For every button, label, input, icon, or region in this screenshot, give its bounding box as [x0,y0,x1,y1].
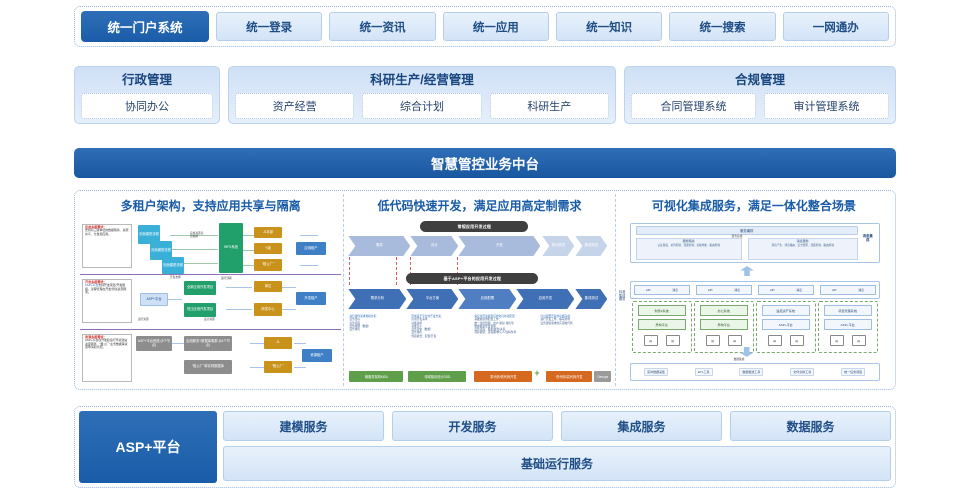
group-admin-cells: 协同办公 [81,93,213,119]
panel-integration-body: 服务编排 服务总线 服务网关 认证鉴权、访问控制、流量控制、负载均衡、路由控制 … [616,219,892,387]
note-app-tenant: 应用多租需求： 支持对三级单位的数据隔离、资源共享、分发和应用。 [82,224,132,268]
label-dev-support: 开发支撑 [170,277,181,280]
panel-lowcode: 低代码快速开发，满足应用高定制需求 常规应用开发过程 需求 设计 开发 单元测试… [343,194,614,386]
asp-platform-services: 建模服务 开发服务 集成服务 数据服务 基础运行服务 [223,411,891,483]
group-admin-title: 行政管理 [81,71,213,90]
group-rd-title: 科研生产/经营管理 [235,71,609,90]
system-hetero-platform-1: 异构平台 [638,319,686,330]
org-rd-center: 研发中心 [254,303,282,316]
org-level-y: Y级 [254,243,282,254]
database-icon-6: ▤ [790,335,804,346]
panel-multitenant: 多租户架构，支持应用共享与隔离 应用多租需求： 支持对三级单位的数据隔离、资源共… [78,194,343,386]
portal-item-apps[interactable]: 统一应用 [443,12,549,41]
database-icon-5: ▤ [768,335,782,346]
org-unit: 单位 [254,281,282,292]
asp-platform-label: ASP+平台 [79,411,217,483]
panel-lowcode-body: 常规应用开发过程 需求 设计 开发 单元测试 集成测试 基于ASP+平台的应用开… [344,219,614,387]
tool-task-scheduler[interactable]: 统一任务调度 [841,368,865,376]
asp-service-chips: 建模服务 开发服务 集成服务 数据服务 [223,411,891,441]
group-compliance: 合规管理 合同管理系统 审计管理系统 [624,66,896,124]
asp-service-integration[interactable]: 集成服务 [561,411,722,441]
system-finance: 财务2系统 [638,305,686,316]
portal-main-system[interactable]: 统一门户系统 [81,11,209,42]
group-rd-cell-asset[interactable]: 资产经营 [235,93,354,119]
asp-service-development[interactable]: 开发服务 [392,411,553,441]
system-asset-monitor: 监控资产系统 [762,305,810,316]
node-factory-db: "租公厂"单实例数据库 [184,360,232,374]
model-flow-3: 页面模型流程 [162,257,184,274]
org-factory-2: "租公厂" [264,361,292,373]
portal-item-knowledge[interactable]: 统一知识 [556,12,662,41]
tool-file-exchange[interactable]: 文件交换工具 [790,368,814,376]
asp-service-modeling[interactable]: 建模服务 [223,411,384,441]
col-text-1: 进行软件需求规格分析： 业务目标 业务流程 业务规则（数据） 业务角色 [349,315,407,331]
database-icon-4: ▤ [728,335,742,346]
tool-data-report[interactable]: 数据报送工具 [739,368,763,376]
message-integration-label: 消息集成 [862,235,874,243]
middle-platform-banner: 智慧管控业务中台 [74,148,896,178]
col-text-2: 形成基于平台的开发方案： 应用开发清单 功能清单 功能定义 业务对象（数据） 业… [411,315,469,338]
portal-item-onestop[interactable]: 一网通办 [783,12,889,41]
feature-panels: 多租户架构，支持应用共享与隔离 应用多租需求： 支持对三级单位的数据隔离、资源共… [74,190,896,390]
legend-ddd: 领域驱动设计DDD [408,371,466,382]
api-row-2: API消息 [696,285,752,295]
col-text-4: 针对需要开发的功能完成： 进行开发工作，编写用例 业务逻辑需求的实现和代码 [540,315,604,325]
node-asp-base: ASP+平台底座 (8个节点) [136,336,172,351]
org-j1: J1 [264,337,292,349]
stage-bot-integration-test: 集成测试 [575,289,607,309]
project-migrate-app: 低迁应用开发项目 [184,303,216,317]
legend-msa: 微服务架构MSA [349,371,403,382]
portal-row: 统一门户系统 统一登录 统一资讯 统一应用 统一知识 统一搜索 一网通办 [74,6,896,47]
system-office: 办公系统 [700,305,748,316]
stage-top-unit-test: 单元测试 [542,236,574,256]
legend-devops: Devops [594,371,611,382]
group-rd: 科研生产/经营管理 资产经营 综合计划 科研生产 [228,66,616,124]
tenant-resource: 资源租户 [302,349,332,362]
arrow-up-icon [740,266,754,276]
asp-platform-row: ASP+平台 建模服务 开发服务 集成服务 数据服务 基础运行服务 [74,406,896,488]
portal-items: 统一登录 统一资讯 统一应用 统一知识 统一搜索 一网通办 [216,12,889,41]
stage-top-requirement: 需求 [348,236,410,256]
stage-bot-app-config: 应用配置 [458,289,516,309]
api-row-4: API消息 [820,285,876,295]
legend-zero-lowcode: 零代码/低代码开发 [474,371,532,382]
stage-bot-platform-plan: 平台方案 [406,289,458,309]
note-resource-tenant: 资源多租需求： ASP+平台在开发和运行环境建站资源隔离、"租公厂"业务数据库资… [82,334,132,382]
panel-integration: 可视化集成服务，满足一体化整合场景 服务编排 服务总线 服务网关 认证鉴权、访问… [615,194,892,386]
panel-multitenant-title: 多租户架构，支持应用共享与隔离 [78,194,343,219]
portal-item-search[interactable]: 统一搜索 [669,12,775,41]
tenant-application: 应用租户 [296,242,326,255]
database-icon-8: ▤ [852,335,866,346]
org-headquarters: J1本部 [254,227,282,238]
system-asp-platform-2: ASP+平台 [824,319,872,330]
system-project-mgmt: 项目管理系统 [824,305,872,316]
col-text-3: 将应用开发模型可视化自动化配置： 基础模型的配置工作： 统一身份管理：用户·组织… [474,315,536,335]
stage-top-integration-test: 集成测试 [575,236,607,256]
legend-low-highcode: 低代码/高代码开发 [546,371,592,382]
portal-item-login[interactable]: 统一登录 [216,12,322,41]
tool-realtime-collect[interactable]: 实时数据采集 [644,368,668,376]
panel-multitenant-body: 应用多租需求： 支持对三级单位的数据隔离、资源共享、分发和应用。 开发多租需求：… [78,219,343,387]
standard-service-label: 标准集成服务 [618,291,627,302]
asp-platform-node: ASP+平台 [140,293,168,306]
label-runtime-deploy: 运行部署 [221,278,232,281]
database-icon-3: ▤ [706,335,720,346]
api-row-1: API消息 [634,285,690,295]
api-row-3: API消息 [758,285,814,295]
stage-bot-requirement-analysis: 需求分析 [348,289,406,309]
wfs-system: WFS系统 [219,223,243,273]
asp-base-runtime-service: 基础运行服务 [223,446,891,481]
stage-top-development: 开发 [458,236,540,256]
group-admin: 行政管理 协同办公 [74,66,220,124]
group-compliance-cells: 合同管理系统 审计管理系统 [631,93,889,119]
pill-conventional-process: 常规应用开发过程 [420,221,528,232]
group-admin-cell-collab[interactable]: 协同办公 [81,93,213,119]
org-factory: "租公厂" [254,259,282,271]
system-asp-platform-1: ASP+平台 [762,319,810,330]
node-app-db-cluster: 应用服务+数据库集群 (64个节点) [184,336,232,351]
stage-top-design: 设计 [410,236,458,256]
database-icon-7: ▤ [830,335,844,346]
note-dev-tenant: 开发多租需求： ASP+平台支持开发项目/开发租组，过程管理在开发/测试资源隔离… [82,279,132,323]
group-rd-cell-plan[interactable]: 综合计划 [362,93,481,119]
service-gateway-block: 服务网关 认证鉴权、访问控制、流量控制、负载均衡、路由控制 [636,238,742,260]
pill-asp-process: 基于ASP+平台的应用开发过程 [406,273,538,284]
database-icon-2: ▤ [666,335,680,346]
architecture-diagram: 统一门户系统 统一登录 统一资讯 统一应用 统一知识 统一搜索 一网通办 行政管… [0,0,969,496]
conn-label-orchestration: 应用资源自定编排 [190,233,204,239]
service-orchestration: 服务编排 [636,226,858,235]
database-icon-1: ▤ [644,335,658,346]
group-compliance-cell-audit[interactable]: 审计管理系统 [764,93,889,119]
portal-item-news[interactable]: 统一资讯 [329,12,435,41]
plus-icon: + [534,369,539,378]
group-rd-cells: 资产经营 综合计划 科研生产 [235,93,609,119]
data-integration-label: 数据集成 [734,359,745,362]
group-compliance-cell-contract[interactable]: 合同管理系统 [631,93,756,119]
panel-integration-title: 可视化集成服务，满足一体化整合场景 [616,194,892,219]
stage-bot-app-develop: 应用开发 [516,289,574,309]
asp-service-data[interactable]: 数据服务 [730,411,891,441]
message-service-block: 消息服务 消息产生、消息路由、安全管理、流量控制、路由控制 [748,238,858,260]
tenant-development: 开发租户 [296,292,326,305]
data-tools-bar: 实时数据采集 ETL工具 数据报送工具 文件交换工具 统一任务调度 [630,363,880,381]
project-new-app: 全新应用开发项目 [184,281,216,295]
tool-etl[interactable]: ETL工具 [695,368,713,376]
group-compliance-title: 合规管理 [631,71,889,90]
system-hetero-platform-2: 异构平台 [700,319,748,330]
panel-lowcode-title: 低代码快速开发，满足应用高定制需求 [344,194,614,219]
group-rd-cell-production[interactable]: 科研生产 [490,93,609,119]
label-design-resource: 设计资源 [204,319,215,322]
label-runtime-resource: 运行资源 [138,319,149,322]
